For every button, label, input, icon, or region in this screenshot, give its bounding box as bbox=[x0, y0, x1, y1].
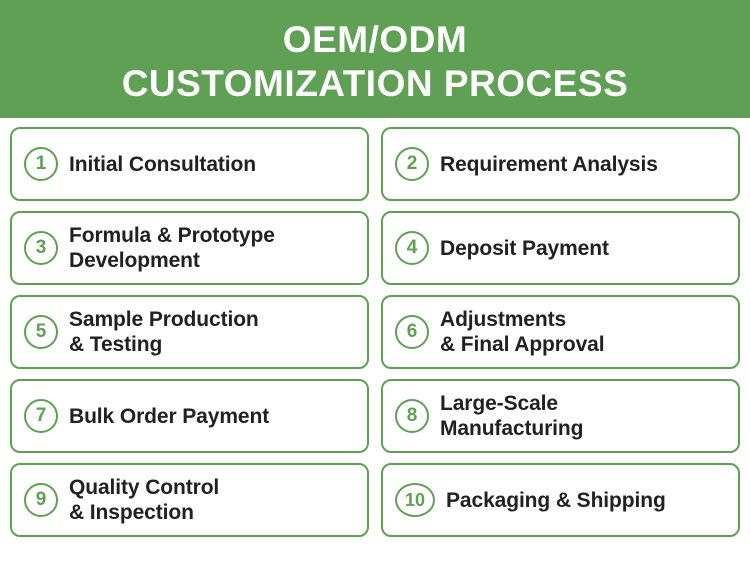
step-card-8: 8 Large-Scale Manufacturing bbox=[381, 379, 740, 453]
step-card-6: 6 Adjustments & Final Approval bbox=[381, 295, 740, 369]
step-label: Quality Control & Inspection bbox=[69, 475, 219, 525]
step-number-badge: 7 bbox=[24, 399, 58, 433]
step-card-3: 3 Formula & Prototype Development bbox=[10, 211, 369, 285]
step-card-2: 2 Requirement Analysis bbox=[381, 127, 740, 201]
step-label: Adjustments & Final Approval bbox=[440, 307, 604, 357]
step-number-badge: 8 bbox=[395, 399, 429, 433]
step-label: Sample Production & Testing bbox=[69, 307, 259, 357]
step-number-badge: 10 bbox=[395, 483, 435, 517]
step-number-badge: 4 bbox=[395, 231, 429, 265]
step-card-9: 9 Quality Control & Inspection bbox=[10, 463, 369, 537]
step-card-10: 10 Packaging & Shipping bbox=[381, 463, 740, 537]
step-card-5: 5 Sample Production & Testing bbox=[10, 295, 369, 369]
step-number-badge: 5 bbox=[24, 315, 58, 349]
steps-grid: 1 Initial Consultation 2 Requirement Ana… bbox=[0, 118, 750, 541]
step-label: Formula & Prototype Development bbox=[69, 223, 275, 273]
step-label: Deposit Payment bbox=[440, 236, 609, 261]
step-card-4: 4 Deposit Payment bbox=[381, 211, 740, 285]
step-number-badge: 6 bbox=[395, 315, 429, 349]
step-label: Requirement Analysis bbox=[440, 152, 658, 177]
step-card-7: 7 Bulk Order Payment bbox=[10, 379, 369, 453]
step-card-1: 1 Initial Consultation bbox=[10, 127, 369, 201]
step-number-badge: 1 bbox=[24, 147, 58, 181]
step-label: Packaging & Shipping bbox=[446, 488, 666, 513]
step-label: Bulk Order Payment bbox=[69, 404, 269, 429]
step-label: Initial Consultation bbox=[69, 152, 256, 177]
step-label: Large-Scale Manufacturing bbox=[440, 391, 583, 441]
process-diagram: OEM/ODM CUSTOMIZATION PROCESS 1 Initial … bbox=[0, 0, 750, 579]
step-number-badge: 3 bbox=[24, 231, 58, 265]
step-number-badge: 2 bbox=[395, 147, 429, 181]
header-title-line1: OEM/ODM bbox=[283, 18, 467, 62]
step-number-badge: 9 bbox=[24, 483, 58, 517]
diagram-header: OEM/ODM CUSTOMIZATION PROCESS bbox=[0, 0, 750, 118]
header-title-line2: CUSTOMIZATION PROCESS bbox=[122, 62, 629, 106]
